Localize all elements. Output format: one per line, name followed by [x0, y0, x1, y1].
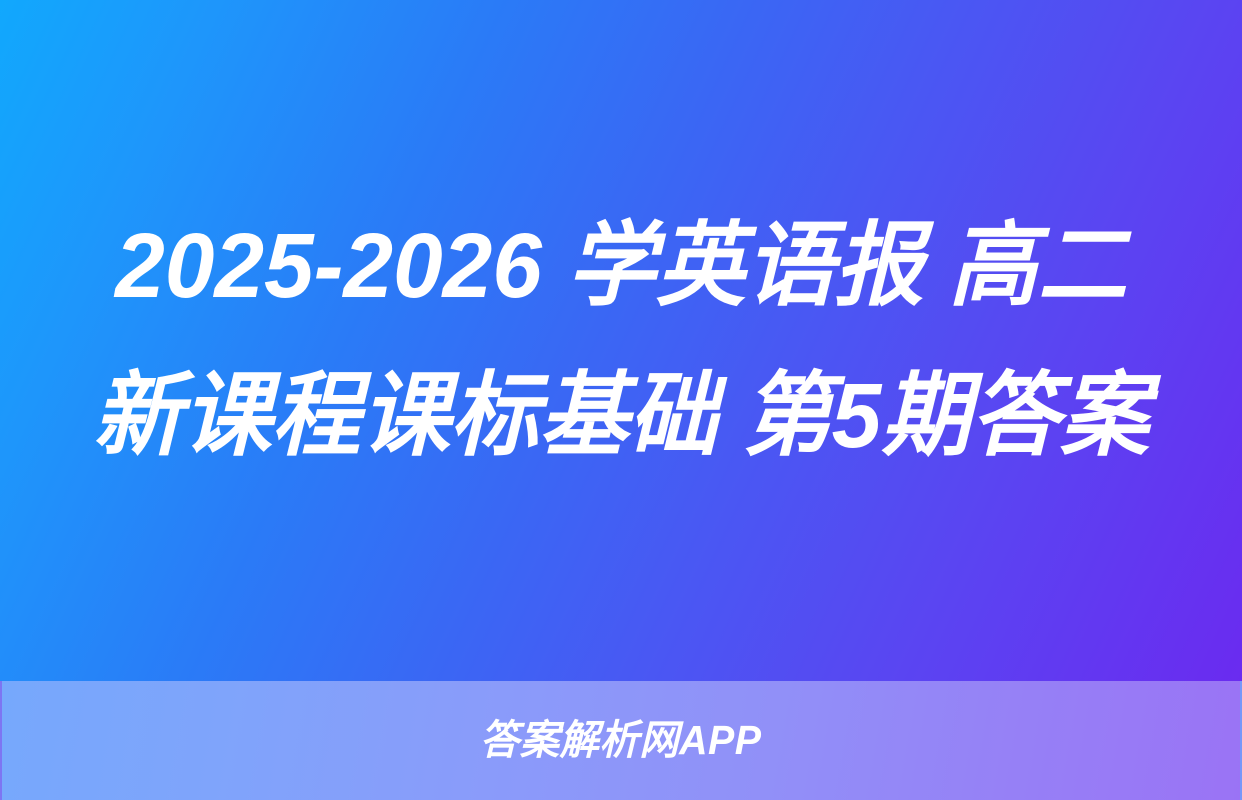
brand-name-label: 答案解析网APP [480, 720, 762, 761]
brand-footer-bar[interactable]: 答案解析网APP [0, 681, 1242, 800]
hero-gradient-banner: 2025-2026 学英语报 高二 新课程课标基础 第5期答案 [0, 0, 1242, 681]
answer-poster: 2025-2026 学英语报 高二 新课程课标基础 第5期答案 答案解析网APP [0, 0, 1242, 800]
page-title: 2025-2026 学英语报 高二 新课程课标基础 第5期答案 [92, 191, 1149, 491]
